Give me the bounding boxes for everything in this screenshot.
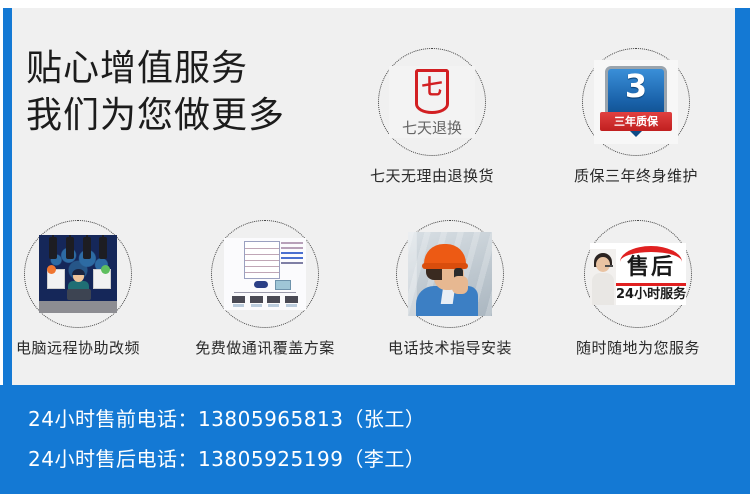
green-dot-icon [101, 265, 110, 274]
feature-circle [396, 220, 504, 328]
feature-three-year-warranty[interactable]: 3 三年质保 质保三年终身维护 [556, 48, 716, 186]
right-accent-bar [735, 8, 750, 390]
network-node-icon [254, 281, 268, 288]
walkie-talkie-icon [49, 237, 57, 259]
feature-circle [24, 220, 132, 328]
feature-label: 电脑远程协助改频 [0, 337, 158, 358]
orange-dot-icon [47, 265, 56, 274]
badge-caption: 七天退换 [402, 117, 462, 138]
service-agent-photo [590, 249, 616, 305]
feature-circle [211, 220, 319, 328]
warranty-ribbon: 三年质保 [600, 112, 672, 131]
device-node-icon [250, 296, 263, 303]
walkie-talkie-icon [99, 237, 107, 259]
aftersale-phone[interactable]: 24小时售后电话：13805925199（李工） [28, 449, 425, 469]
remote-pc-assist-icon [39, 235, 117, 313]
feature-label: 七天无理由退换货 [352, 165, 512, 186]
shield-glyph: 七 [418, 77, 446, 98]
service-banner: 贴心增值服务 我们为您做更多 七 七天退换 七天无理由退换货 3 三年质保 质保… [0, 0, 750, 494]
laptop-icon [67, 289, 91, 300]
phone-technical-support-icon [408, 232, 492, 316]
device-node-icon [285, 296, 298, 303]
diagram-legend [281, 242, 303, 270]
feature-circle: 七 七天退换 [378, 48, 486, 156]
feature-seven-day-return[interactable]: 七 七天退换 七天无理由退换货 [352, 48, 512, 186]
walkie-talkie-icon [66, 237, 74, 259]
server-icon [275, 280, 291, 290]
three-year-warranty-shield-icon: 3 三年质保 [594, 60, 678, 144]
worker-hand [452, 276, 468, 294]
feature-circle: 3 三年质保 [582, 48, 690, 156]
device-node-icon [267, 296, 280, 303]
feature-label: 免费做通讯覆盖方案 [185, 337, 345, 358]
feature-after-sales[interactable]: 售后 24小时服务 随时随地为您服务 [558, 220, 718, 358]
device-node-icon [232, 296, 245, 303]
feature-coverage-plan[interactable]: 免费做通讯覆盖方案 [185, 220, 345, 358]
after-sales-subtitle: 24小时服务 [616, 286, 686, 303]
worker-shirt [416, 286, 478, 316]
headline-line-1: 贴心增值服务 [26, 48, 248, 89]
technician-hair [72, 269, 85, 275]
seven-day-return-shield-icon: 七 七天退换 [389, 66, 475, 138]
feature-label: 电话技术指导安装 [370, 337, 530, 358]
page-title: 贴心增值服务 我们为您做更多 [26, 45, 336, 139]
headset-mic-icon [605, 265, 613, 267]
after-sales-service-icon: 售后 24小时服务 [590, 243, 686, 305]
headline-line-2: 我们为您做更多 [26, 92, 336, 139]
desk-surface [39, 301, 117, 313]
feature-remote-assist[interactable]: 电脑远程协助改频 [0, 220, 158, 358]
network-coverage-plan-icon [224, 238, 306, 310]
topology-connector [234, 292, 296, 293]
feature-phone-support[interactable]: 电话技术指导安装 [370, 220, 530, 358]
presale-phone[interactable]: 24小时售前电话：13805965813（张工） [28, 409, 425, 429]
building-floors-diagram [244, 241, 280, 279]
feature-label: 随时随地为您服务 [558, 337, 718, 358]
after-sales-title: 售后 [618, 256, 684, 280]
feature-circle: 售后 24小时服务 [584, 220, 692, 328]
shield-outline: 七 [415, 69, 449, 101]
contact-bar [0, 385, 750, 494]
walkie-talkie-icon [83, 237, 91, 259]
feature-label: 质保三年终身维护 [556, 165, 716, 186]
warranty-years-digit: 3 [594, 70, 678, 102]
